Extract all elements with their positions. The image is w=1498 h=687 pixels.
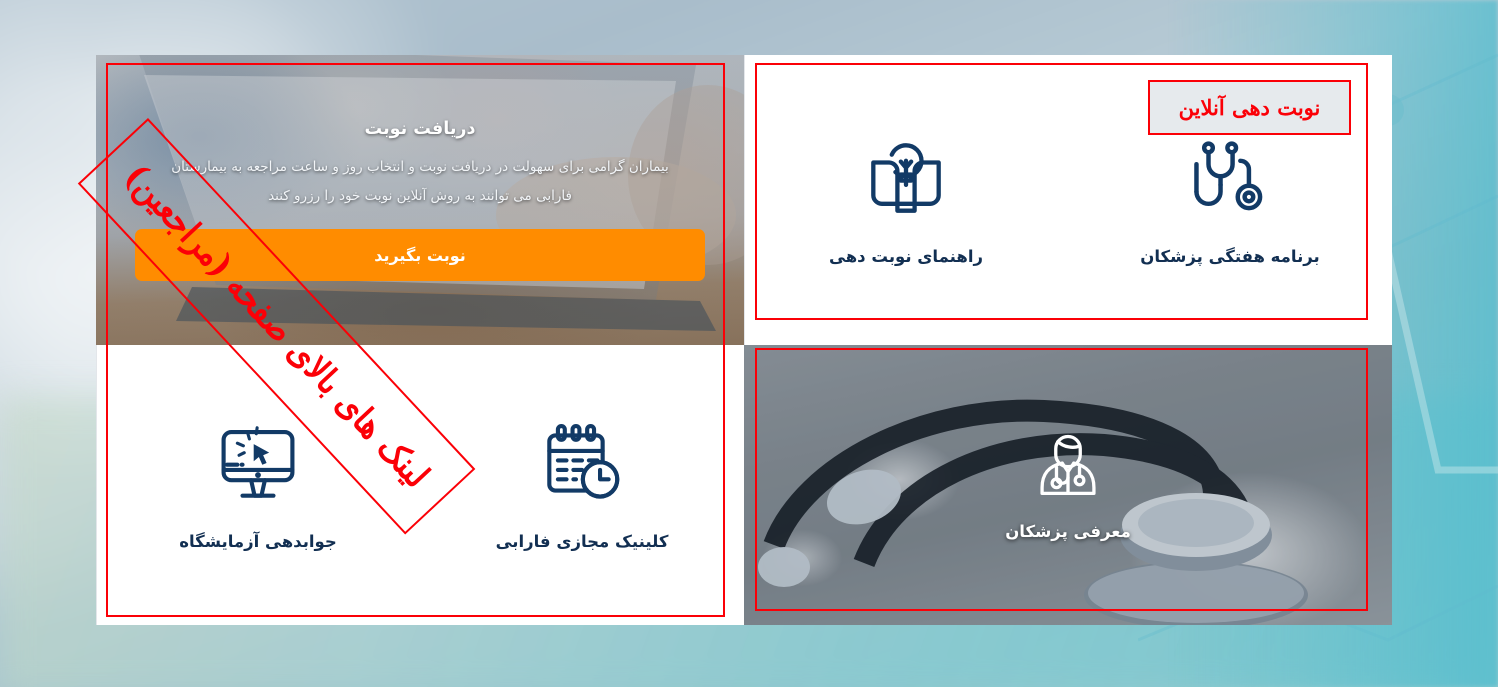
tile-label: کلینیک مجازی فارابی	[496, 532, 669, 551]
tile-label: معرفی پزشکان	[1005, 522, 1131, 541]
monitor-cursor-icon	[215, 420, 301, 506]
tile-lab-results[interactable]: جوابدهی آزمایشگاه	[96, 345, 420, 625]
hero-paragraph-line-2: فارابی می توانند به روش آنلاین نوبت خود …	[130, 182, 710, 211]
hero-heading: دریافت نوبت	[365, 119, 476, 139]
hero-content: دریافت نوبت بیماران گرامی برای سهولت در …	[96, 119, 744, 281]
bottom-row: معرفی پزشکان کلینیک مجازی فار	[96, 345, 1392, 625]
book-lightbulb-icon	[863, 135, 949, 221]
tile-label: برنامه هفتگی پزشکان	[1140, 247, 1319, 266]
bottom-right-tiles: کلینیک مجازی فارابی جوابدهی آزمایشگاه	[96, 345, 744, 625]
tile-doctors-intro[interactable]: معرفی پزشکان	[744, 345, 1392, 625]
tile-label: راهنمای نوبت دهی	[829, 247, 983, 266]
online-appointment-hero: دریافت نوبت بیماران گرامی برای سهولت در …	[96, 55, 744, 345]
top-row: برنامه هفتگی پزشکان راهنمای نوبت دهی	[96, 55, 1392, 345]
tile-virtual-clinic[interactable]: کلینیک مجازی فارابی	[420, 345, 744, 625]
stethoscope-icon	[1187, 135, 1273, 221]
get-appointment-button[interactable]: نوبت بگیرید	[135, 229, 705, 281]
doctor-icon	[1032, 430, 1104, 502]
top-left-tiles: برنامه هفتگی پزشکان راهنمای نوبت دهی	[744, 55, 1392, 345]
content-stage: برنامه هفتگی پزشکان راهنمای نوبت دهی	[96, 55, 1392, 625]
calendar-clock-icon	[539, 420, 625, 506]
tile-weekly-schedule[interactable]: برنامه هفتگی پزشکان	[1068, 55, 1392, 345]
hero-paragraph-line-1: بیماران گرامی برای سهولت در دریافت نوبت …	[130, 153, 710, 182]
tile-appointment-guide[interactable]: راهنمای نوبت دهی	[744, 55, 1068, 345]
tile-label: جوابدهی آزمایشگاه	[179, 532, 337, 551]
